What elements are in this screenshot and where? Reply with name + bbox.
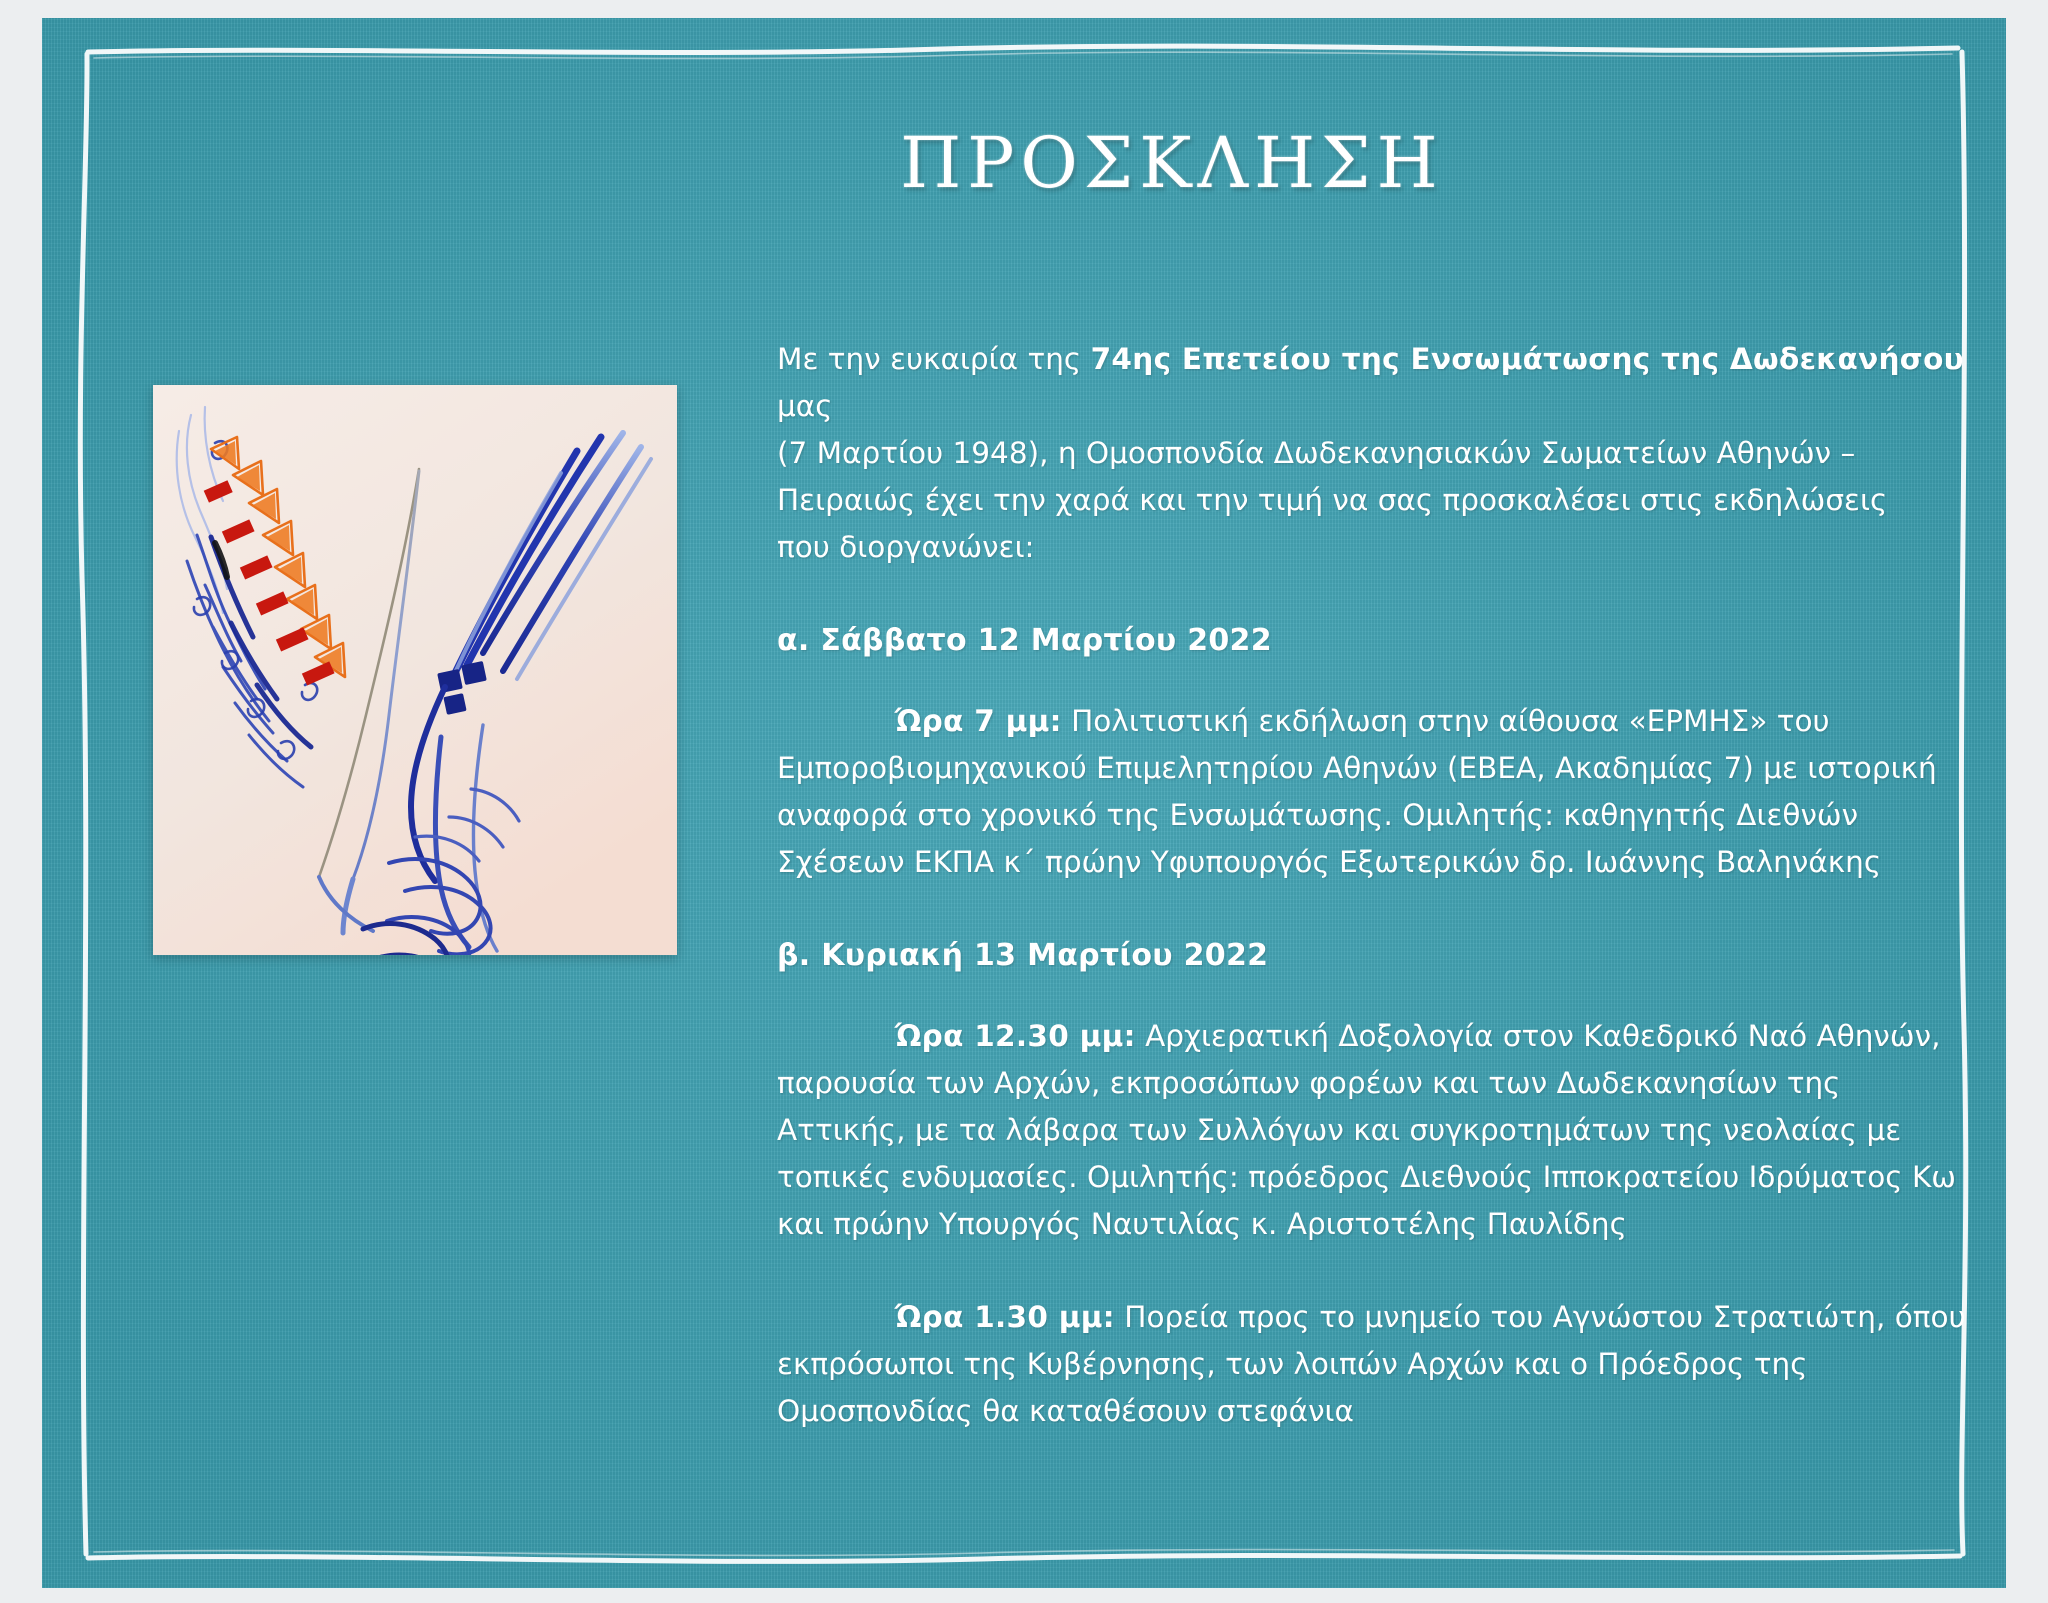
event-a-item-1-time: Ώρα 7 μμ: bbox=[895, 704, 1062, 738]
intro-line1-suffix: μας bbox=[777, 389, 833, 423]
event-b-item-1: Ώρα 12.30 μμ: Αρχιερατική Δοξολογία στον… bbox=[777, 1013, 1967, 1248]
artwork-image bbox=[153, 385, 677, 955]
spacer bbox=[777, 979, 1967, 1013]
intro-line1-prefix: Με την ευκαιρία της bbox=[777, 342, 1091, 376]
intro-line4: που διοργανώνει: bbox=[777, 530, 1035, 564]
invitation-body: Με την ευκαιρία της 74ης Επετείου της Εν… bbox=[777, 336, 1967, 1435]
hands-and-feathers-illustration bbox=[153, 385, 677, 955]
intro-line3: Πειραιώς έχει την χαρά και την τιμή να σ… bbox=[777, 483, 1887, 517]
event-a-heading: α. Σάββατο 12 Μαρτίου 2022 bbox=[777, 617, 1967, 664]
intro-line2: (7 Μαρτίου 1948), η Ομοσπονδία Δωδεκανησ… bbox=[777, 436, 1855, 470]
spacer bbox=[777, 1248, 1967, 1294]
invitation-card: ΠΡΟΣΚΛΗΣΗ bbox=[42, 18, 2006, 1588]
page-title: ΠΡΟΣΚΛΗΣΗ bbox=[742, 122, 1602, 204]
anniversary-highlight: 74ης Επετείου της Ενσωμάτωσης της Δωδεκα… bbox=[1091, 342, 1964, 376]
event-b-item-2: Ώρα 1.30 μμ: Πορεία προς το μνημείο του … bbox=[777, 1294, 1967, 1435]
event-b-item-2-time: Ώρα 1.30 μμ: bbox=[895, 1300, 1115, 1334]
intro-paragraph: Με την ευκαιρία της 74ης Επετείου της Εν… bbox=[777, 336, 1967, 571]
event-b-heading: β. Κυριακή 13 Μαρτίου 2022 bbox=[777, 932, 1967, 979]
event-b-item-1-time: Ώρα 12.30 μμ: bbox=[895, 1019, 1136, 1053]
spacer bbox=[777, 886, 1967, 932]
spacer bbox=[777, 571, 1967, 617]
spacer bbox=[777, 664, 1967, 698]
event-a-item-1: Ώρα 7 μμ: Πολιτιστική εκδήλωση στην αίθο… bbox=[777, 698, 1967, 886]
